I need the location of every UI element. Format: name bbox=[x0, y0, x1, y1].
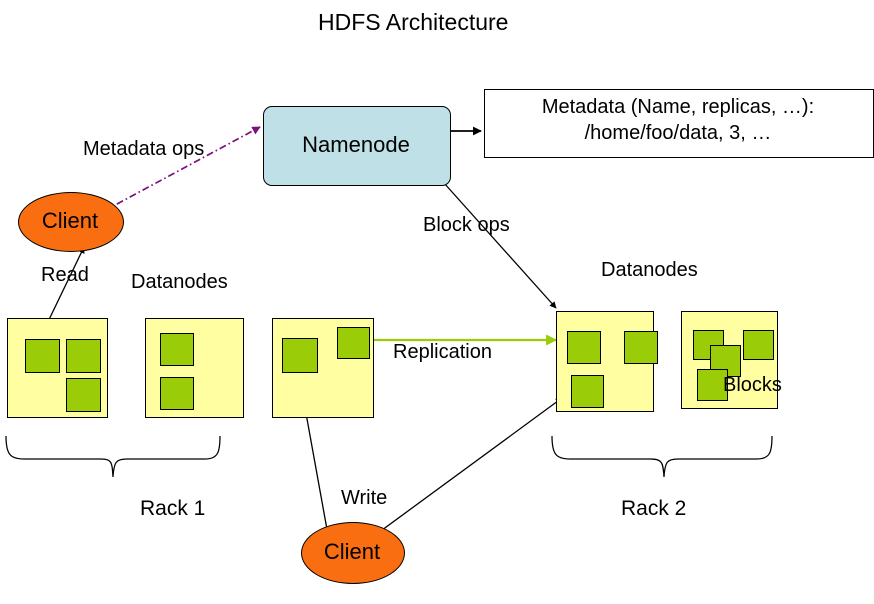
block[interactable] bbox=[25, 339, 60, 373]
label-datanodes-right: Datanodes bbox=[601, 260, 698, 281]
block[interactable] bbox=[624, 331, 658, 364]
block[interactable] bbox=[567, 331, 601, 364]
rack1-brace bbox=[6, 436, 220, 477]
label-block-ops: Block ops bbox=[423, 215, 510, 236]
datanode-dn1[interactable] bbox=[7, 318, 108, 418]
label-metadata-ops: Metadata ops bbox=[83, 139, 204, 160]
metadata-box-text: Metadata (Name, replicas, …): /home/foo/… bbox=[484, 94, 872, 147]
block[interactable] bbox=[66, 339, 101, 373]
datanode-dn4[interactable] bbox=[556, 311, 654, 412]
block[interactable] bbox=[66, 378, 101, 412]
arrow-write-to-rack2 bbox=[378, 398, 562, 533]
datanode-dn3[interactable] bbox=[272, 318, 374, 418]
arrow-block-ops bbox=[444, 183, 556, 308]
client-top-label: Client bbox=[18, 208, 122, 234]
block[interactable] bbox=[337, 327, 370, 359]
label-rack1: Rack 1 bbox=[140, 498, 205, 520]
hdfs-architecture-diagram: HDFS Architecture bbox=[0, 0, 874, 604]
block[interactable] bbox=[160, 377, 194, 410]
label-rack2: Rack 2 bbox=[621, 498, 686, 520]
metadata-line-1: Metadata (Name, replicas, …): bbox=[484, 94, 872, 120]
client-bottom-label: Client bbox=[301, 539, 403, 565]
datanode-dn2[interactable] bbox=[145, 318, 244, 418]
namenode-label: Namenode bbox=[263, 132, 449, 158]
label-blocks: Blocks bbox=[723, 375, 782, 396]
block[interactable] bbox=[743, 330, 774, 360]
block[interactable] bbox=[571, 375, 604, 408]
label-replication: Replication bbox=[393, 342, 492, 363]
block[interactable] bbox=[282, 338, 318, 373]
metadata-line-2: /home/foo/data, 3, … bbox=[484, 120, 872, 146]
label-datanodes-left: Datanodes bbox=[131, 272, 228, 293]
label-read: Read bbox=[41, 265, 89, 286]
block[interactable] bbox=[160, 333, 194, 366]
label-write: Write bbox=[341, 488, 387, 509]
rack2-brace bbox=[552, 436, 772, 477]
